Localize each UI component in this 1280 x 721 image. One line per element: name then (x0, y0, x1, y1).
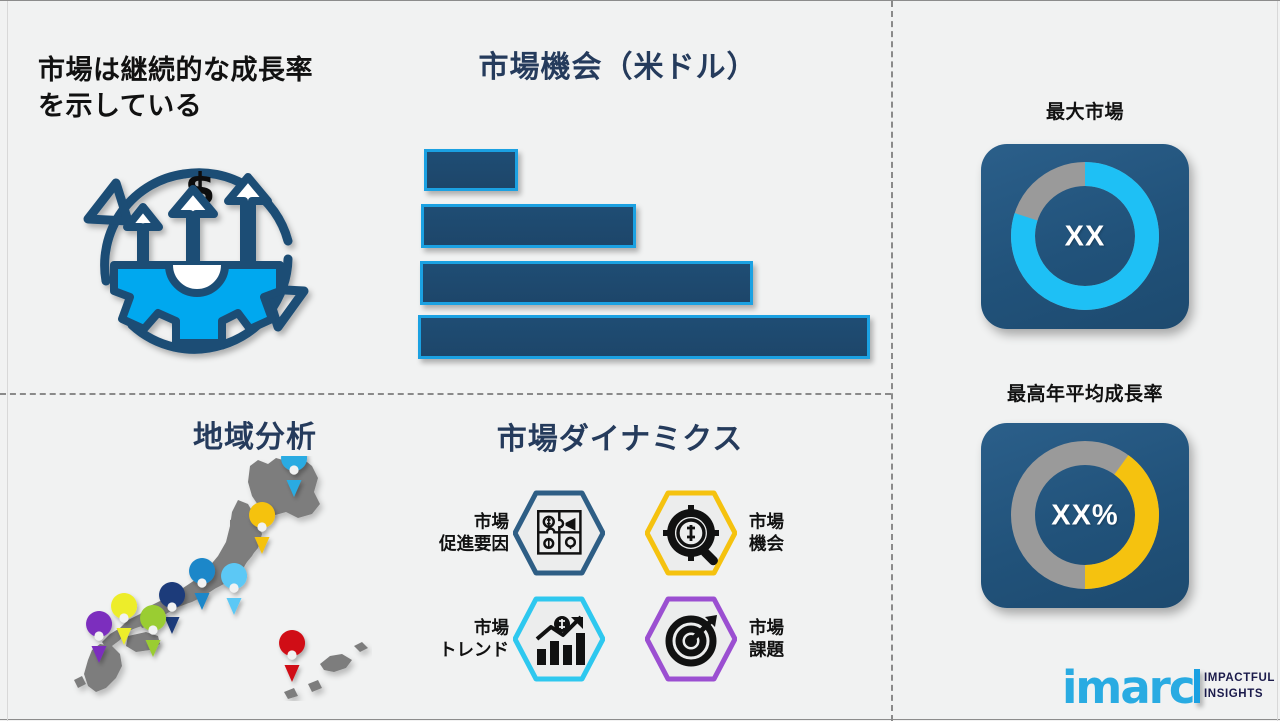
dynamics-label-drivers: 市場 促進要因 (409, 511, 509, 556)
logo-divider (1194, 669, 1200, 703)
target-arrow-icon (645, 593, 737, 685)
imarc-logo: imarc IMPACTFUL INSIGHTS (1062, 663, 1267, 711)
logo-wordmark: imarc (1062, 661, 1194, 714)
growth-bar-chart-icon (513, 593, 605, 685)
dynamics-panel-title: 市場ダイナミクス (400, 421, 840, 459)
horizontal-divider (0, 393, 891, 395)
growth-gear-arrows-icon: $ (72, 129, 322, 377)
dynamics-label-opportunity: 市場 機会 (749, 511, 849, 556)
bar-3 (420, 261, 753, 305)
bar-4 (418, 315, 870, 359)
bar-1 (424, 149, 518, 191)
logo-tagline-line2: INSIGHTS (1204, 688, 1263, 700)
dynamics-item-challenges[interactable]: 市場 課題 (645, 593, 845, 685)
dynamics-label-challenges: 市場 課題 (749, 617, 849, 662)
slide-left-edge (7, 1, 8, 721)
logo-tagline: IMPACTFUL INSIGHTS (1204, 671, 1275, 702)
pin-kanto[interactable] (221, 563, 247, 615)
highest-cagr-donut-card: XX% (981, 423, 1189, 608)
highest-cagr-title: 最高年平均成長率 (955, 379, 1215, 406)
opportunity-panel-title: 市場機会（米ドル） (408, 49, 828, 87)
slide-right-edge (1277, 1, 1278, 721)
largest-market-value: XX (981, 220, 1189, 253)
largest-market-donut-card: XX (981, 144, 1189, 329)
opportunity-bar-chart (418, 147, 878, 357)
dynamics-item-trends[interactable]: 市場 トレンド (405, 593, 605, 685)
pin-okinawa[interactable] (279, 630, 305, 682)
regional-panel-title: 地域分析 (150, 419, 360, 457)
japan-map (62, 456, 372, 701)
puzzle-pieces-icon (513, 487, 605, 579)
largest-market-title: 最大市場 (955, 97, 1215, 124)
dynamics-item-drivers[interactable]: 市場 促進要因 (405, 487, 605, 579)
slide-canvas: 市場は継続的な成長率 を示している $ (0, 0, 1280, 720)
highest-cagr-value: XX% (981, 499, 1189, 532)
bar-2 (421, 204, 636, 248)
dynamics-label-trends: 市場 トレンド (399, 617, 509, 662)
magnifier-dollar-icon (645, 487, 737, 579)
vertical-divider (891, 1, 893, 721)
growth-panel-title: 市場は継続的な成長率 を示している (38, 53, 388, 124)
dynamics-item-opportunity[interactable]: 市場 機会 (645, 487, 845, 579)
logo-tagline-line1: IMPACTFUL (1204, 672, 1275, 684)
